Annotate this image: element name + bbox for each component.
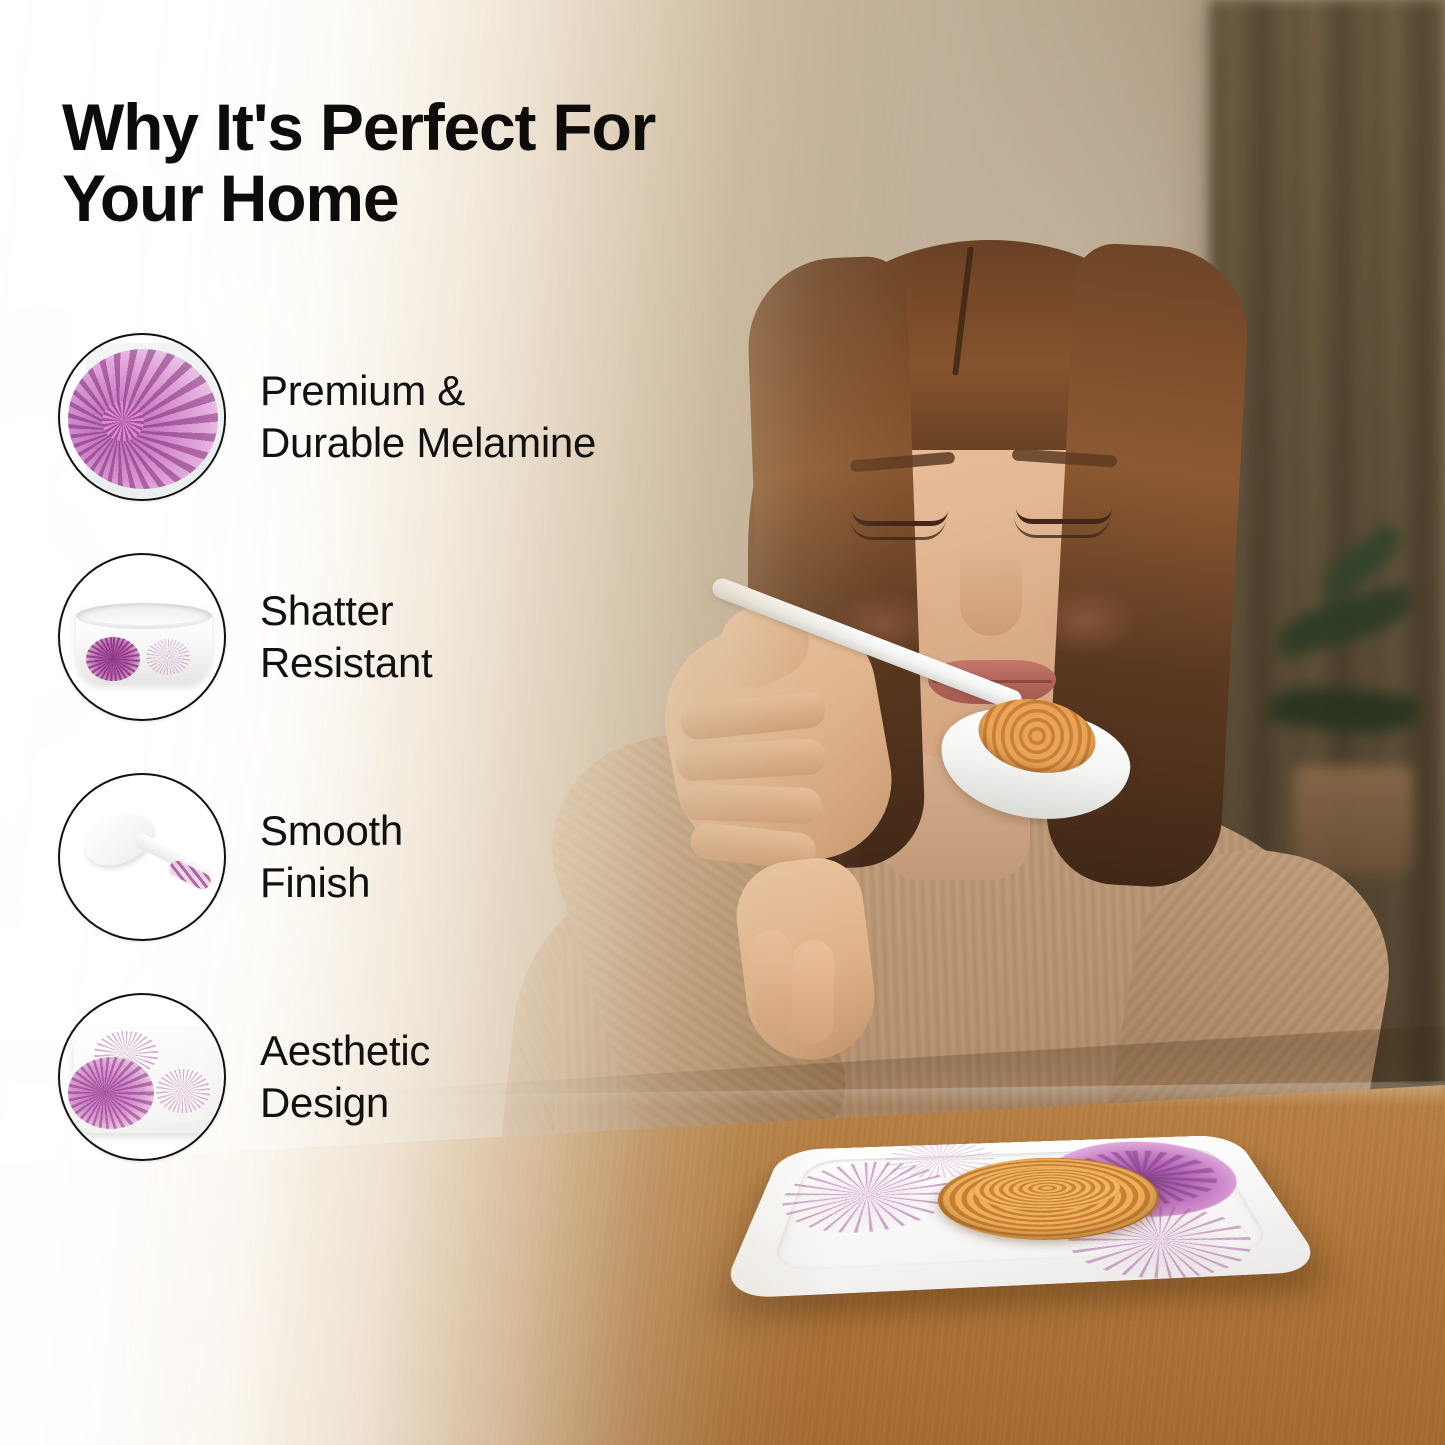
feature-label: Smooth Finish xyxy=(260,805,403,909)
floral-square-plate-icon xyxy=(58,993,226,1161)
feature-list: Premium & Durable Melamine Shatter Resis… xyxy=(58,333,718,1161)
feature-item-premium-durable-melamine: Premium & Durable Melamine xyxy=(58,333,718,501)
floral-plate-closeup-icon xyxy=(58,333,226,501)
feature-item-aesthetic-design: Aesthetic Design xyxy=(58,993,718,1161)
square-melamine-bowl-icon xyxy=(58,553,226,721)
content-layer: Why It's Perfect For Your Home Premium &… xyxy=(0,0,1445,1445)
feature-label: Premium & Durable Melamine xyxy=(260,365,596,469)
page-title: Why It's Perfect For Your Home xyxy=(62,92,782,235)
feature-label: Shatter Resistant xyxy=(260,585,432,689)
feature-item-shatter-resistant: Shatter Resistant xyxy=(58,553,718,721)
feature-item-smooth-finish: Smooth Finish xyxy=(58,773,718,941)
infographic-canvas: Why It's Perfect For Your Home Premium &… xyxy=(0,0,1445,1445)
feature-label: Aesthetic Design xyxy=(260,1025,430,1129)
melamine-spoon-icon xyxy=(58,773,226,941)
